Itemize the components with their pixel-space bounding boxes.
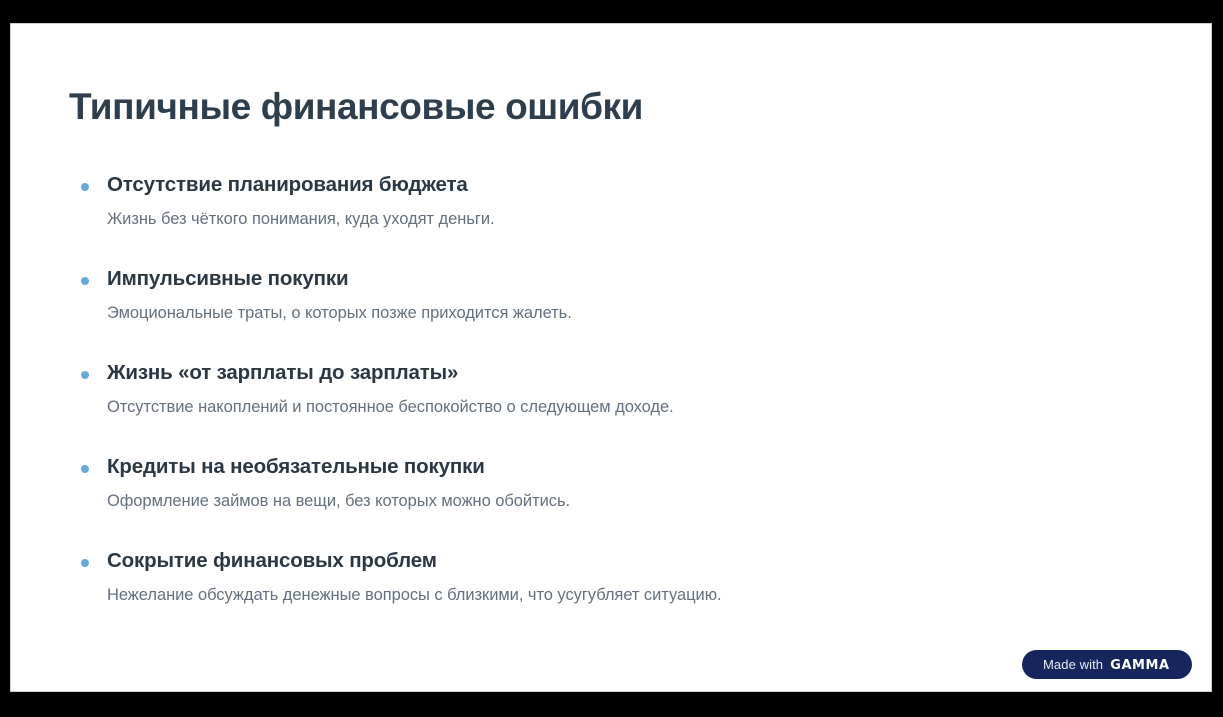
list-item-heading: Жизнь «от зарплаты до зарплаты» — [107, 360, 1149, 386]
list-item-description: Отсутствие накоплений и постоянное беспо… — [107, 397, 1149, 418]
bullet-dot-icon — [81, 277, 89, 285]
list-item: Кредиты на необязательные покупкиОформле… — [69, 454, 1149, 512]
bullet-dot-icon — [81, 559, 89, 567]
list-item: Сокрытие финансовых проблемНежелание обс… — [69, 548, 1149, 606]
made-with-label: Made with — [1043, 657, 1103, 672]
outer-frame: Типичные финансовые ошибки Отсутствие пл… — [0, 0, 1223, 717]
list-item-description: Оформление займов на вещи, без которых м… — [107, 491, 1149, 512]
page-title: Типичные финансовые ошибки — [69, 87, 643, 128]
bullet-dot-icon — [81, 183, 89, 191]
list-item-description: Жизнь без чёткого понимания, куда уходят… — [107, 209, 1149, 230]
list-item-heading: Сокрытие финансовых проблем — [107, 548, 1149, 574]
bullet-dot-icon — [81, 371, 89, 379]
list-item-description: Эмоциональные траты, о которых позже при… — [107, 303, 1149, 324]
gamma-wordmark: GAMMA — [1110, 657, 1169, 673]
list-item: Отсутствие планирования бюджетаЖизнь без… — [69, 172, 1149, 230]
bullet-list: Отсутствие планирования бюджетаЖизнь без… — [69, 172, 1149, 606]
slide-card: Типичные финансовые ошибки Отсутствие пл… — [11, 24, 1211, 691]
made-with-gamma-badge[interactable]: Made with GAMMA — [1022, 650, 1192, 679]
list-item-heading: Отсутствие планирования бюджета — [107, 172, 1149, 198]
bullet-dot-icon — [81, 465, 89, 473]
list-item-heading: Кредиты на необязательные покупки — [107, 454, 1149, 480]
list-item: Жизнь «от зарплаты до зарплаты»Отсутстви… — [69, 360, 1149, 418]
list-item: Импульсивные покупкиЭмоциональные траты,… — [69, 266, 1149, 324]
list-item-description: Нежелание обсуждать денежные вопросы с б… — [107, 585, 1149, 606]
list-item-heading: Импульсивные покупки — [107, 266, 1149, 292]
